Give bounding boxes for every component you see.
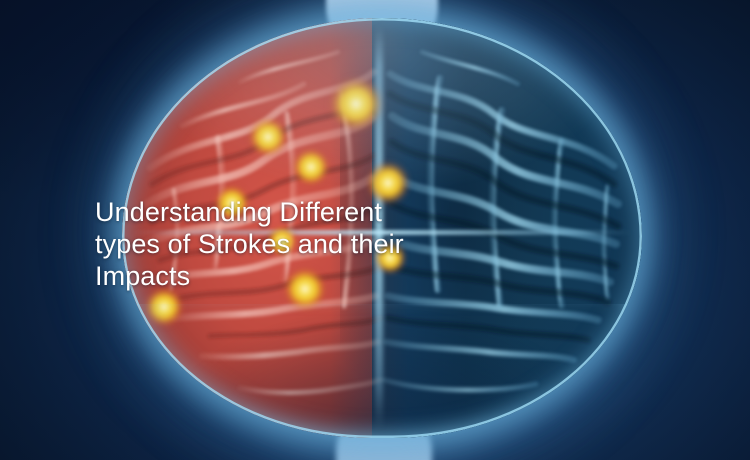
banner-canvas: Understanding Different types of Strokes… (0, 0, 750, 460)
page-title: Understanding Different types of Strokes… (95, 196, 495, 292)
